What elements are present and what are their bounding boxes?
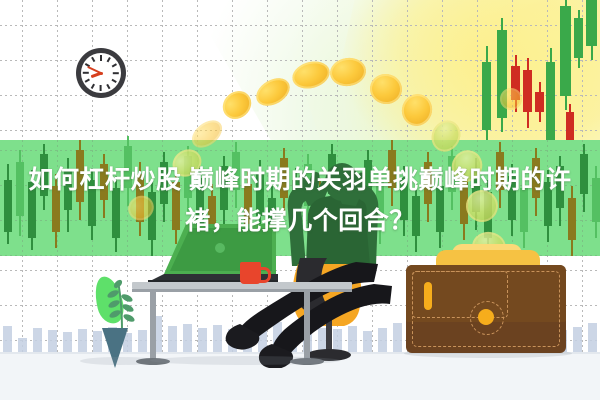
gold-coin <box>368 71 405 106</box>
bar-chart-bar <box>588 323 597 352</box>
bar-chart-bar <box>18 338 27 352</box>
wallet-card-strip <box>424 282 432 310</box>
poster-title: 如何杠杆炒股 巅峰时期的关羽单挑巅峰时期的许 褚，能撑几个回合？ <box>0 160 600 242</box>
clock-tick <box>100 73 102 91</box>
gold-coin <box>251 73 294 112</box>
poster-title-line-2: 褚，能撑几个回合？ <box>14 201 586 242</box>
leather-wallet <box>406 265 566 353</box>
bar-chart-bar <box>33 328 42 352</box>
gold-coin <box>289 57 333 92</box>
gold-coin <box>397 90 436 130</box>
desk-leg-left <box>150 292 156 362</box>
poster-image: 如何杠杆炒股 巅峰时期的关羽单挑巅峰时期的许 褚，能撑几个回合？ <box>0 0 600 400</box>
clock-center-pin <box>100 72 103 75</box>
office-desk <box>132 282 352 362</box>
bar-chart-bar <box>573 327 582 352</box>
bar-chart-bar <box>48 330 57 352</box>
clock-face <box>81 53 121 93</box>
gold-coin <box>328 56 368 89</box>
bar-chart-bar <box>78 329 87 352</box>
wallet-button <box>478 309 494 325</box>
desk-shadow <box>150 356 340 365</box>
desk-leg-right <box>304 292 310 362</box>
poster-title-line-1: 如何杠杆炒股 巅峰时期的关羽单挑巅峰时期的许 <box>14 160 586 201</box>
wall-clock <box>75 42 127 106</box>
gold-coin <box>187 115 227 153</box>
gold-coin <box>217 85 257 124</box>
desk-top-edge <box>132 289 352 292</box>
mug-body <box>240 262 261 284</box>
bar-chart-bar <box>63 332 72 352</box>
bar-chart-bar <box>3 326 12 352</box>
coffee-mug <box>240 262 266 284</box>
gold-coin <box>500 88 522 110</box>
gold-coin <box>426 115 465 156</box>
